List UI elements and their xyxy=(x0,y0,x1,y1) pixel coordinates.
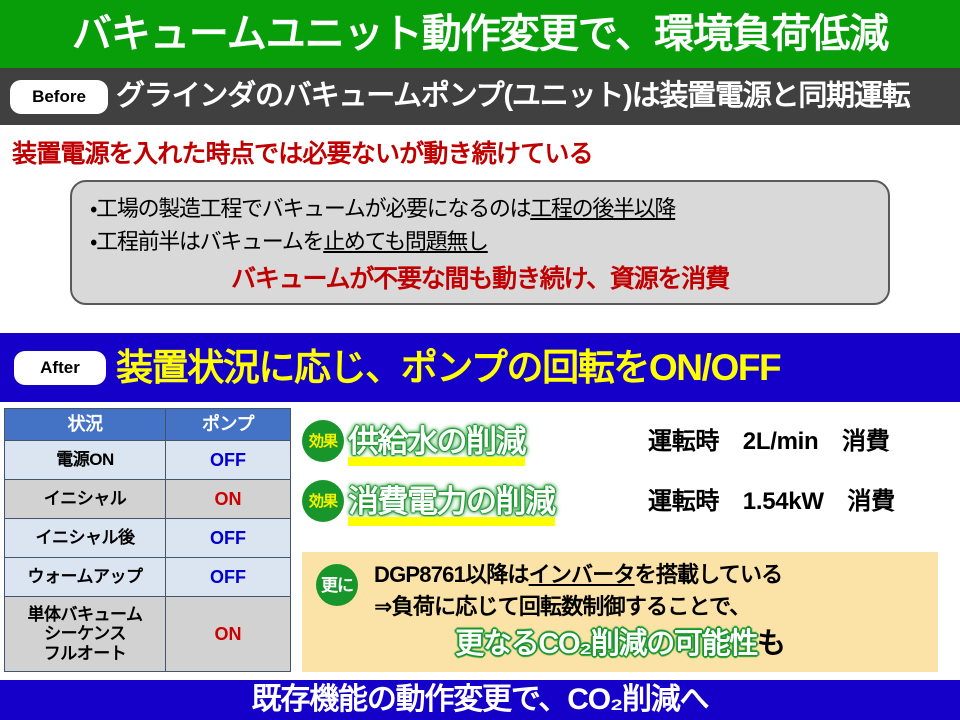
bullet-text-2: ・工程前半はバキュームを xyxy=(90,229,323,254)
note-text-1b: を搭載している xyxy=(635,562,783,587)
bullet-text-1: ・工場の製造工程でバキュームが必要になるのは xyxy=(90,196,530,221)
cell-pump: OFF xyxy=(166,558,291,597)
metric-power: 運転時 1.54kW 消費 xyxy=(648,490,895,514)
note-text-1a: DGP8761以降は xyxy=(374,562,529,587)
before-section-body: 装置電源を入れた時点では必要ないが動き続けている ・工場の製造工程でバキュームが… xyxy=(0,125,960,333)
after-headline: 装置状況に応じ、ポンプの回転をON/OFF xyxy=(116,349,780,386)
note-line-2: ⇒負荷に応じて回転数制御することで、 xyxy=(374,596,751,618)
note-badge-icon: 更に xyxy=(316,564,358,606)
before-badge: Before xyxy=(10,80,108,114)
effect-label-water: 供給水の削減 xyxy=(348,426,525,457)
cell-pump: ON xyxy=(166,480,291,519)
cell-pump: OFF xyxy=(166,519,291,558)
highlight-underline xyxy=(348,517,555,526)
note-tail: も xyxy=(757,628,785,660)
table-row: ウォームアップ OFF xyxy=(5,558,291,597)
after-badge: After xyxy=(14,351,106,385)
table-row: 単体バキュームシーケンスフルオート ON xyxy=(5,597,291,672)
effect-row-water: 効果 供給水の削減 xyxy=(302,420,525,462)
slide-footer-bar: 既存機能の動作変更で、CO₂削減へ xyxy=(0,680,960,720)
list-item: ・工程前半はバキュームを止めても問題無し xyxy=(90,231,488,253)
footer-message: 既存機能の動作変更で、CO₂削減へ xyxy=(252,685,709,715)
note-line-3: 更なるCO₂削減の可能性も xyxy=(302,630,938,659)
table-header-row: 状況 ポンプ xyxy=(5,409,291,441)
list-item: ・工場の製造工程でバキュームが必要になるのは工程の後半以降 xyxy=(90,198,675,220)
cell-state: 電源ON xyxy=(5,441,166,480)
column-header-state: 状況 xyxy=(5,409,166,441)
before-headline: グラインダのバキュームポンプ(ユニット)は装置電源と同期運転 xyxy=(116,82,910,111)
highlight-underline xyxy=(348,457,525,466)
note-line-1: DGP8761以降はインバータを搭載している xyxy=(374,564,782,586)
cell-pump: OFF xyxy=(166,441,291,480)
bullet-underline-1: 工程の後半以降 xyxy=(530,196,675,221)
before-conclusion: バキュームが不要な間も動き続け、資源を消費 xyxy=(72,267,888,292)
metric-water: 運転時 2L/min 消費 xyxy=(648,430,889,454)
cell-state: 単体バキュームシーケンスフルオート xyxy=(5,597,166,672)
effect-badge-icon: 効果 xyxy=(302,480,344,522)
before-problem-statement: 装置電源を入れた時点では必要ないが動き続けている xyxy=(12,142,593,167)
before-detail-box: ・工場の製造工程でバキュームが必要になるのは工程の後半以降 ・工程前半はバキュー… xyxy=(70,180,890,305)
cell-pump: ON xyxy=(166,597,291,672)
note-underline: インバータ xyxy=(529,562,635,587)
slide-title-bar: バキュームユニット動作変更で、環境負荷低減 xyxy=(0,0,960,68)
bullet-underline-2: 止めても問題無し xyxy=(323,229,488,254)
inverter-note-box: 更に DGP8761以降はインバータを搭載している ⇒負荷に応じて回転数制御する… xyxy=(302,552,938,672)
after-section-header: After 装置状況に応じ、ポンプの回転をON/OFF xyxy=(0,333,960,402)
before-section-header: Before グラインダのバキュームポンプ(ユニット)は装置電源と同期運転 xyxy=(0,68,960,125)
table-row: イニシャル後 OFF xyxy=(5,519,291,558)
column-header-pump: ポンプ xyxy=(166,409,291,441)
note-highlight: 更なるCO₂削減の可能性 xyxy=(455,628,757,660)
effect-badge-icon: 効果 xyxy=(302,420,344,462)
effect-label-power: 消費電力の削減 xyxy=(348,486,555,517)
cell-state: ウォームアップ xyxy=(5,558,166,597)
cell-state: イニシャル後 xyxy=(5,519,166,558)
table-row: 電源ON OFF xyxy=(5,441,291,480)
table-row: イニシャル ON xyxy=(5,480,291,519)
effect-row-power: 効果 消費電力の削減 xyxy=(302,480,555,522)
after-section-body: 状況 ポンプ 電源ON OFF イニシャル ON イニシャル後 OFF ウォーム… xyxy=(0,402,960,680)
pump-state-table: 状況 ポンプ 電源ON OFF イニシャル ON イニシャル後 OFF ウォーム… xyxy=(4,408,291,672)
cell-state: イニシャル xyxy=(5,480,166,519)
page-title: バキュームユニット動作変更で、環境負荷低減 xyxy=(72,14,888,54)
